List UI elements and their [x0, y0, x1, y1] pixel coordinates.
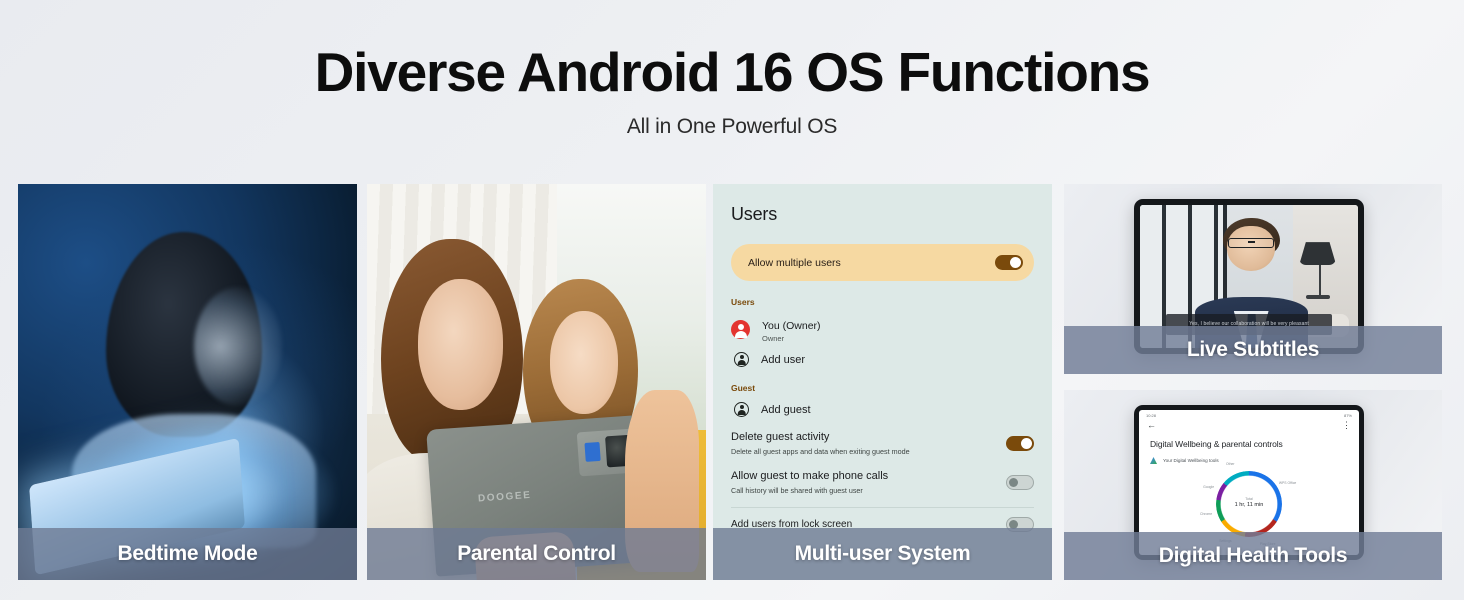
brand-logo: DOOGEE	[478, 490, 532, 505]
add-guest-row[interactable]: Add guest	[731, 402, 1034, 417]
card-live-subtitles[interactable]: Yes, I believe our collaboration will be…	[1064, 184, 1442, 374]
chart-icon	[1150, 457, 1157, 464]
users-settings-screen: Users Allow multiple users Users You (Ow…	[713, 184, 1052, 580]
setting-subtitle: Delete all guest apps and data when exit…	[731, 447, 910, 456]
back-arrow-icon[interactable]: ←	[1147, 421, 1156, 430]
caption-bar: Bedtime Mode	[18, 528, 357, 580]
add-guest-label: Add guest	[761, 404, 811, 416]
allow-guest-phone-calls-toggle[interactable]	[1006, 475, 1034, 490]
app-bar: ← ⋮	[1139, 418, 1359, 430]
segment-label-5: Other	[1226, 462, 1234, 466]
child-face-shape	[550, 311, 618, 414]
setting-allow-guest-phone-calls[interactable]: Allow guest to make phone calls Call his…	[731, 470, 1034, 495]
parental-photo: DOOGEE	[367, 184, 706, 580]
segment-label-3: Chrome	[1200, 512, 1212, 516]
total-label: Total	[1235, 497, 1264, 501]
mother-face-shape	[418, 279, 503, 410]
owner-role: Owner	[762, 334, 821, 343]
page-title: Diverse Android 16 OS Functions	[0, 44, 1464, 102]
setting-delete-guest-activity[interactable]: Delete guest activity Delete all guest a…	[731, 431, 1034, 456]
add-user-icon	[734, 352, 749, 367]
card-caption: Multi-user System	[795, 542, 971, 566]
overflow-menu-icon[interactable]: ⋮	[1342, 421, 1351, 430]
card-multi-user-system[interactable]: Users Allow multiple users Users You (Ow…	[713, 184, 1052, 580]
card-caption: Digital Health Tools	[1159, 544, 1347, 568]
users-screen-title: Users	[731, 204, 1034, 225]
avatar-icon	[731, 320, 750, 339]
card-caption: Bedtime Mode	[118, 542, 258, 566]
delete-guest-activity-toggle[interactable]	[1006, 436, 1034, 451]
page-header: Diverse Android 16 OS Functions All in O…	[0, 0, 1464, 139]
guest-section-label: Guest	[731, 383, 1034, 393]
caption-bar: Parental Control	[367, 528, 706, 580]
status-time: 10:28	[1146, 413, 1156, 418]
status-battery: 87%	[1344, 413, 1352, 418]
setting-title: Delete guest activity	[731, 431, 910, 445]
wellbeing-tools-label: Your Digital Wellbeing tools	[1163, 458, 1219, 463]
card-caption: Parental Control	[457, 542, 616, 566]
wellbeing-title: Digital Wellbeing & parental controls	[1150, 439, 1359, 449]
setting-subtitle: Call history will be shared with guest u…	[731, 486, 888, 495]
setting-title: Allow guest to make phone calls	[731, 470, 888, 484]
total-value: 1 hr, 11 min	[1235, 502, 1264, 508]
add-guest-icon	[734, 402, 749, 417]
caption-bar: Multi-user System	[713, 528, 1052, 580]
divider	[731, 507, 1034, 508]
glasses-icon	[1228, 238, 1274, 248]
users-section-label: Users	[731, 297, 1034, 307]
page-subtitle: All in One Powerful OS	[0, 115, 1464, 139]
wellbeing-tools-row[interactable]: Your Digital Wellbeing tools	[1150, 457, 1359, 464]
card-bedtime-mode[interactable]: Bedtime Mode	[18, 184, 357, 580]
caption-bar: Live Subtitles	[1064, 326, 1442, 374]
donut-center-label: Total 1 hr, 11 min	[1235, 497, 1264, 508]
status-bar: 10:28 87%	[1139, 410, 1359, 418]
card-parental-control[interactable]: DOOGEE Parental Control	[367, 184, 706, 580]
card-caption: Live Subtitles	[1187, 338, 1319, 362]
owner-name: You (Owner)	[762, 320, 821, 332]
child-face-shape	[194, 287, 282, 406]
allow-multiple-users-toggle[interactable]	[995, 255, 1023, 270]
add-user-row[interactable]: Add user	[731, 352, 1034, 367]
bedtime-photo	[18, 184, 357, 580]
caption-bar: Digital Health Tools	[1064, 532, 1442, 580]
user-row-owner[interactable]: You (Owner) Owner	[731, 316, 1034, 343]
lamp-base	[1306, 295, 1330, 299]
speaker-face-shape	[1227, 226, 1275, 270]
segment-label-4: Google	[1203, 485, 1214, 489]
lamp-stem	[1319, 265, 1321, 296]
segment-label-0: WPS Office	[1279, 481, 1296, 485]
allow-multiple-users-row[interactable]: Allow multiple users	[731, 244, 1034, 281]
add-user-label: Add user	[761, 354, 805, 366]
allow-multiple-users-label: Allow multiple users	[748, 257, 841, 269]
camera-flash-icon	[585, 441, 601, 461]
card-digital-health-tools[interactable]: 10:28 87% ← ⋮ Digital Wellbeing & parent…	[1064, 390, 1442, 580]
feature-card-grid: Bedtime Mode DOOGEE Parental C	[18, 184, 1442, 580]
